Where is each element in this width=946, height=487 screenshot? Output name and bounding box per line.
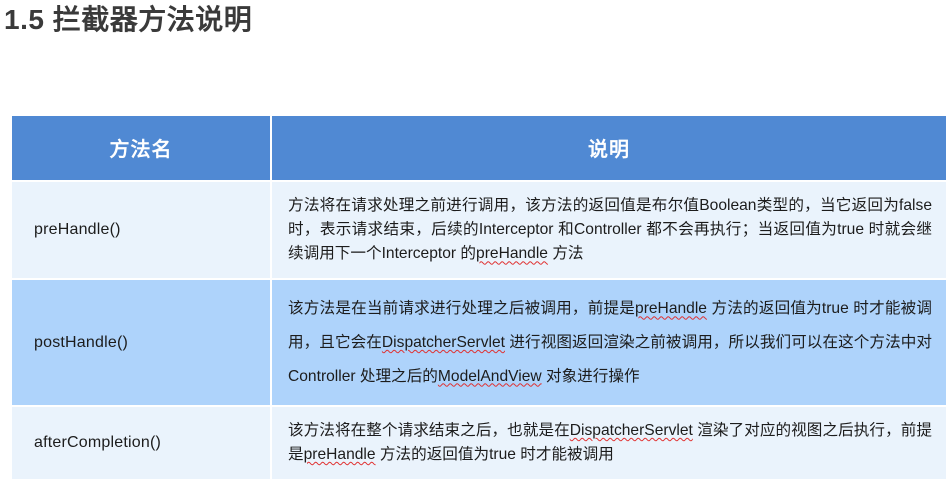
spellcheck-flagged-term: preHandle <box>304 446 376 463</box>
table-row: preHandle()方法将在请求处理之前进行调用，该方法的返回值是布尔值Boo… <box>12 182 946 278</box>
method-name-cell: preHandle() <box>12 182 270 278</box>
description-segment: 方法的返回值为true 时才能被调用 <box>376 446 614 463</box>
spellcheck-flagged-term: ModelAndView <box>438 368 542 385</box>
description-segment: 方法 <box>548 245 584 262</box>
method-name-cell: afterCompletion() <box>12 407 270 479</box>
table-header: 方法名 说明 <box>12 116 946 180</box>
description-segment: 对象进行操作 <box>542 368 640 385</box>
interceptor-methods-table: 方法名 说明 preHandle()方法将在请求处理之前进行调用，该方法的返回值… <box>10 114 946 481</box>
description-segment: 该方法是在当前请求进行处理之后被调用，前提是 <box>288 300 635 317</box>
description-segment: 该方法将在整个请求结束之后，也就是在 <box>288 422 570 439</box>
spellcheck-flagged-term: DispatcherServlet <box>570 422 693 439</box>
method-description-cell: 方法将在请求处理之前进行调用，该方法的返回值是布尔值Boolean类型的，当它返… <box>272 182 946 278</box>
method-description-cell: 该方法是在当前请求进行处理之后被调用，前提是preHandle 方法的返回值为t… <box>272 280 946 405</box>
description-segment: 方法将在请求处理之前进行调用，该方法的返回值是布尔值Boolean类型的，当它返… <box>288 197 932 262</box>
method-name-cell: postHandle() <box>12 280 270 405</box>
table-body: preHandle()方法将在请求处理之前进行调用，该方法的返回值是布尔值Boo… <box>12 182 946 479</box>
description-text: 该方法是在当前请求进行处理之后被调用，前提是preHandle 方法的返回值为t… <box>288 292 932 393</box>
column-header-description: 说明 <box>272 116 946 180</box>
document-page: 1.5 拦截器方法说明 方法名 说明 preHandle()方法将在请求处理之前… <box>0 0 946 487</box>
table-row: afterCompletion()该方法将在整个请求结束之后，也就是在Dispa… <box>12 407 946 479</box>
table-header-row: 方法名 说明 <box>12 116 946 180</box>
table-row: postHandle()该方法是在当前请求进行处理之后被调用，前提是preHan… <box>12 280 946 405</box>
description-text: 该方法将在整个请求结束之后，也就是在DispatcherServlet 渲染了对… <box>288 419 932 467</box>
column-header-method: 方法名 <box>12 116 270 180</box>
page-title: 1.5 拦截器方法说明 <box>4 2 252 38</box>
interceptor-methods-table-wrapper: 方法名 说明 preHandle()方法将在请求处理之前进行调用，该方法的返回值… <box>10 114 946 481</box>
description-text: 方法将在请求处理之前进行调用，该方法的返回值是布尔值Boolean类型的，当它返… <box>288 194 932 266</box>
method-description-cell: 该方法将在整个请求结束之后，也就是在DispatcherServlet 渲染了对… <box>272 407 946 479</box>
spellcheck-flagged-term: DispatcherServlet <box>382 334 505 351</box>
spellcheck-flagged-term: preHandle <box>476 245 548 262</box>
spellcheck-flagged-term: preHandle <box>635 300 707 317</box>
